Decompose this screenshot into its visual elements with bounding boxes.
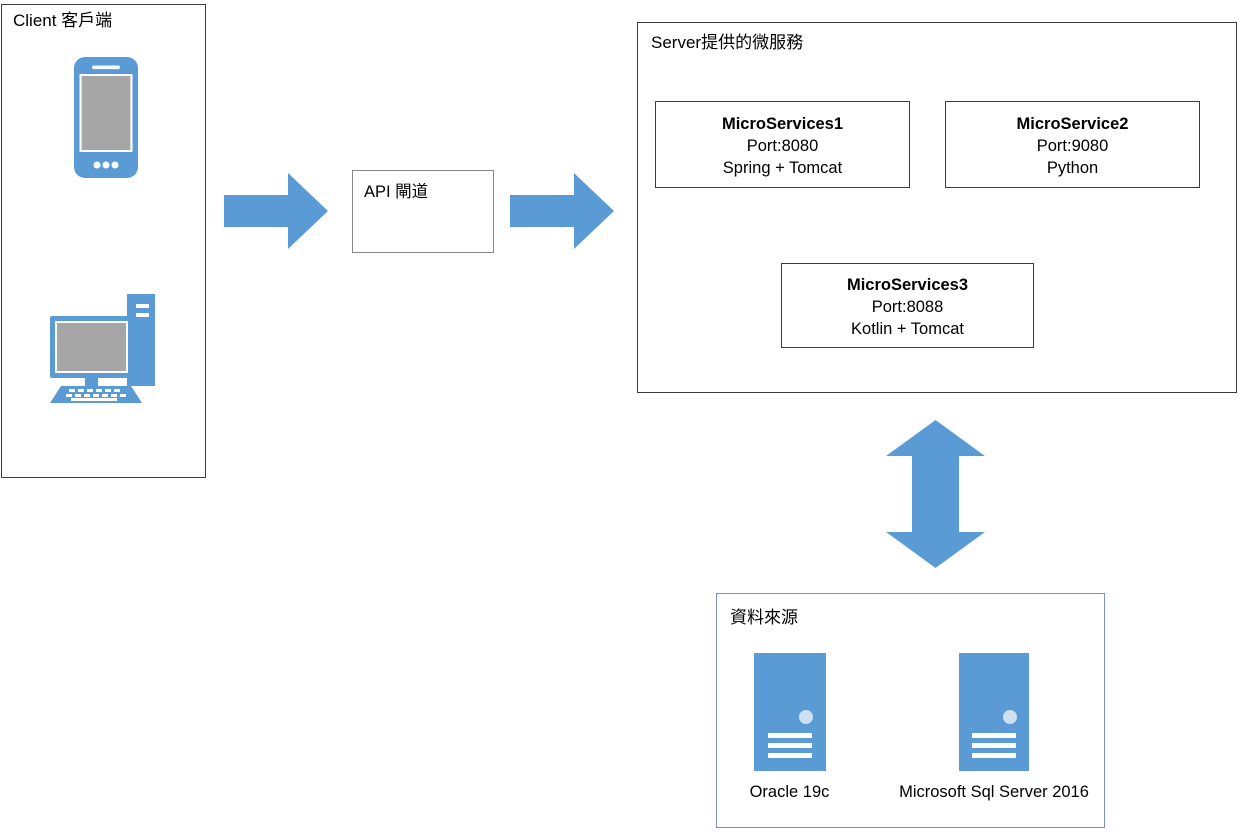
database-label: Oracle 19c — [750, 782, 830, 802]
service-name: MicroServices3 — [847, 274, 968, 296]
gateway-to-server-arrow — [510, 173, 614, 249]
client-to-gateway-arrow — [224, 173, 328, 249]
service-name: MicroServices1 — [722, 113, 843, 135]
server-to-datasource-arrow — [886, 420, 985, 568]
api-gateway-label: API 閘道 — [364, 182, 428, 202]
service-box-microservices1[interactable]: MicroServices1 Port:8080 Spring + Tomcat — [655, 101, 910, 188]
api-gateway-box: API 閘道 — [352, 170, 494, 253]
database-item-sqlserver[interactable]: Microsoft Sql Server 2016 — [888, 653, 1100, 802]
database-server-icon — [959, 653, 1029, 771]
service-box-microservice2[interactable]: MicroService2 Port:9080 Python — [945, 101, 1200, 188]
database-item-oracle[interactable]: Oracle 19c — [727, 653, 852, 802]
server-panel-title: Server提供的微服務 — [651, 33, 803, 53]
service-stack: Python — [1047, 157, 1098, 179]
service-port: Port:9080 — [1037, 135, 1109, 157]
datasource-panel-title: 資料來源 — [730, 608, 798, 628]
client-panel-title: Client 客戶端 — [13, 11, 112, 31]
service-name: MicroService2 — [1017, 113, 1129, 135]
database-server-icon — [754, 653, 826, 771]
service-port: Port:8080 — [747, 135, 819, 157]
service-port: Port:8088 — [872, 296, 944, 318]
service-stack: Kotlin + Tomcat — [851, 318, 964, 340]
database-label: Microsoft Sql Server 2016 — [899, 782, 1089, 802]
desktop-computer-icon — [47, 285, 161, 404]
service-box-microservices3[interactable]: MicroServices3 Port:8088 Kotlin + Tomcat — [781, 263, 1034, 348]
smartphone-icon — [74, 57, 138, 178]
service-stack: Spring + Tomcat — [723, 157, 842, 179]
